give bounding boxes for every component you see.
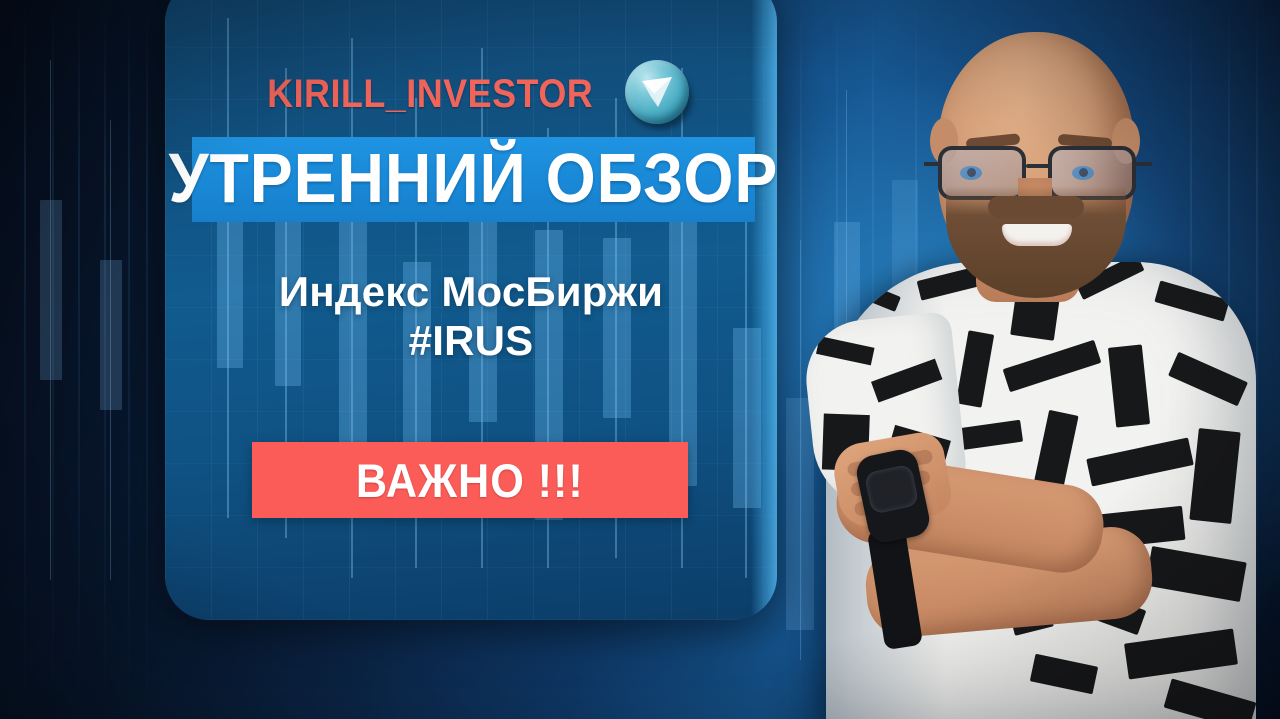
mustache — [988, 196, 1084, 218]
glasses-temple-left — [924, 162, 940, 166]
subtitle-line-2: #IRUS — [165, 317, 777, 366]
headline-text: УТРЕННИЙ ОБЗОР — [169, 143, 777, 213]
subtitle-block: Индекс МосБиржи #IRUS — [165, 268, 777, 365]
important-alert-button[interactable]: ВАЖНО !!! — [252, 442, 688, 518]
content-card: KIRILL_INVESTOR УТРЕННИЙ ОБЗОР Индекс М — [165, 0, 777, 620]
smile — [1002, 224, 1072, 246]
channel-name: KIRILL_INVESTOR — [267, 72, 593, 117]
glasses-bridge — [1026, 164, 1050, 168]
headline-band: УТРЕННИЙ ОБЗОР — [192, 137, 755, 222]
important-alert-label: ВАЖНО !!! — [356, 453, 584, 508]
telegram-plane-icon[interactable] — [625, 60, 693, 128]
banner-stage: KIRILL_INVESTOR УТРЕННИЙ ОБЗОР Индекс М — [0, 0, 1280, 719]
presenter-photo — [770, 0, 1280, 719]
brand-row: KIRILL_INVESTOR — [165, 60, 777, 128]
subtitle-line-1: Индекс МосБиржи — [279, 268, 663, 315]
glasses-temple-right — [1136, 162, 1152, 166]
